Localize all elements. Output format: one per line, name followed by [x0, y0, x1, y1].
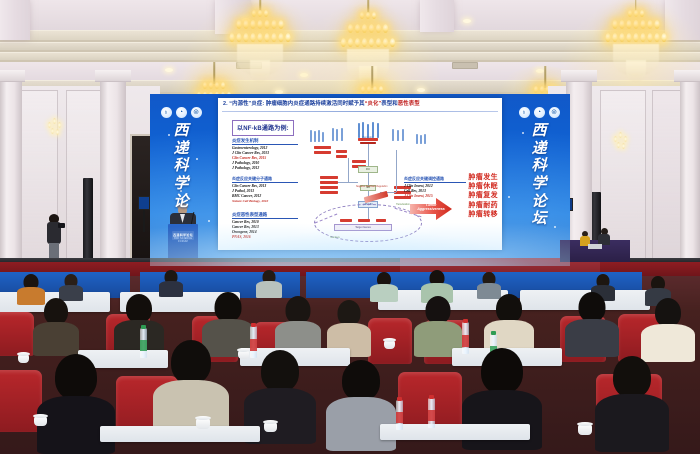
forum-char: 论 [173, 194, 188, 212]
water-bottle [140, 328, 147, 358]
tea-cup [264, 422, 277, 432]
audience-member [36, 298, 76, 350]
audience-member [418, 296, 458, 350]
water-bottle [396, 400, 403, 430]
organizer-logo-3-icon: ⊚ [549, 107, 560, 118]
audience-floor [0, 276, 700, 454]
audience-chair [0, 312, 34, 356]
forum-char: 学 [531, 176, 546, 194]
wall-sconce-icon [48, 118, 62, 134]
tea-cup [34, 416, 47, 426]
stage-monitor-stand [143, 210, 145, 232]
forum-char: 科 [173, 158, 188, 176]
tea-cup [578, 424, 592, 435]
av-assistant [580, 231, 590, 245]
forum-char: 西 [531, 123, 546, 141]
organizer-logo-2-icon: ◔ [176, 107, 187, 118]
stage-monitor-screen [138, 196, 150, 210]
audience-table-front [100, 426, 260, 442]
forum-name-vertical-left: 西 递 科 学 论 [173, 123, 188, 211]
water-bottle [428, 398, 435, 428]
organizer-logo-1-icon: ♁ [519, 107, 530, 118]
audience-member [60, 274, 82, 300]
tea-cup [384, 340, 395, 349]
audience-member [160, 270, 182, 296]
organizer-logos: ♁ ◔ ⊚ [519, 107, 560, 118]
ceiling-downlight [463, 19, 471, 23]
organizer-logo-3-icon: ⊚ [191, 107, 202, 118]
wall-sconce-icon [614, 132, 628, 148]
tea-cup [18, 354, 29, 363]
audience-member [570, 292, 614, 350]
audience-member [118, 294, 160, 350]
ceiling-downlight [165, 68, 173, 72]
audience-member [258, 270, 280, 296]
left-wall [0, 86, 160, 286]
backdrop-particles [150, 94, 570, 266]
conference-hall-photo: ♁ ◔ ⊚ 西 递 科 学 论 ♁ ◔ ⊚ 西 递 科 学 [0, 0, 700, 454]
forum-char: 论 [531, 194, 546, 212]
forum-char: 西 [173, 123, 188, 141]
tea-cup [238, 350, 249, 359]
ceiling-beam [420, 0, 454, 32]
forum-char: 递 [173, 141, 188, 159]
tea-cup [196, 418, 210, 429]
water-bottle [462, 322, 469, 354]
audience-member [330, 300, 368, 352]
audience-member-foreground [160, 340, 222, 438]
ceiling-beam [0, 0, 30, 40]
forum-char: 科 [531, 158, 546, 176]
ceiling-vent [452, 62, 478, 69]
stage-led-backdrop: ♁ ◔ ⊚ 西 递 科 学 论 ♁ ◔ ⊚ 西 递 科 学 [150, 94, 570, 266]
audience-member [646, 298, 690, 354]
audience-member-foreground [602, 356, 662, 450]
audience-member [372, 272, 396, 300]
av-technician [598, 228, 610, 244]
forum-char: 学 [173, 176, 188, 194]
audience-member [278, 296, 318, 350]
organizer-logos: ♁ ◔ ⊚ [161, 107, 202, 118]
laptop [588, 244, 602, 249]
organizer-logo-1-icon: ♁ [161, 107, 172, 118]
forum-char: 递 [531, 141, 546, 159]
audience-member-foreground [44, 354, 108, 450]
organizer-logo-2-icon: ◔ [534, 107, 545, 118]
forum-char: 坛 [531, 211, 546, 229]
forum-name-vertical-right: 西 递 科 学 论 坛 [531, 123, 546, 229]
ceiling-downlight [417, 88, 425, 92]
